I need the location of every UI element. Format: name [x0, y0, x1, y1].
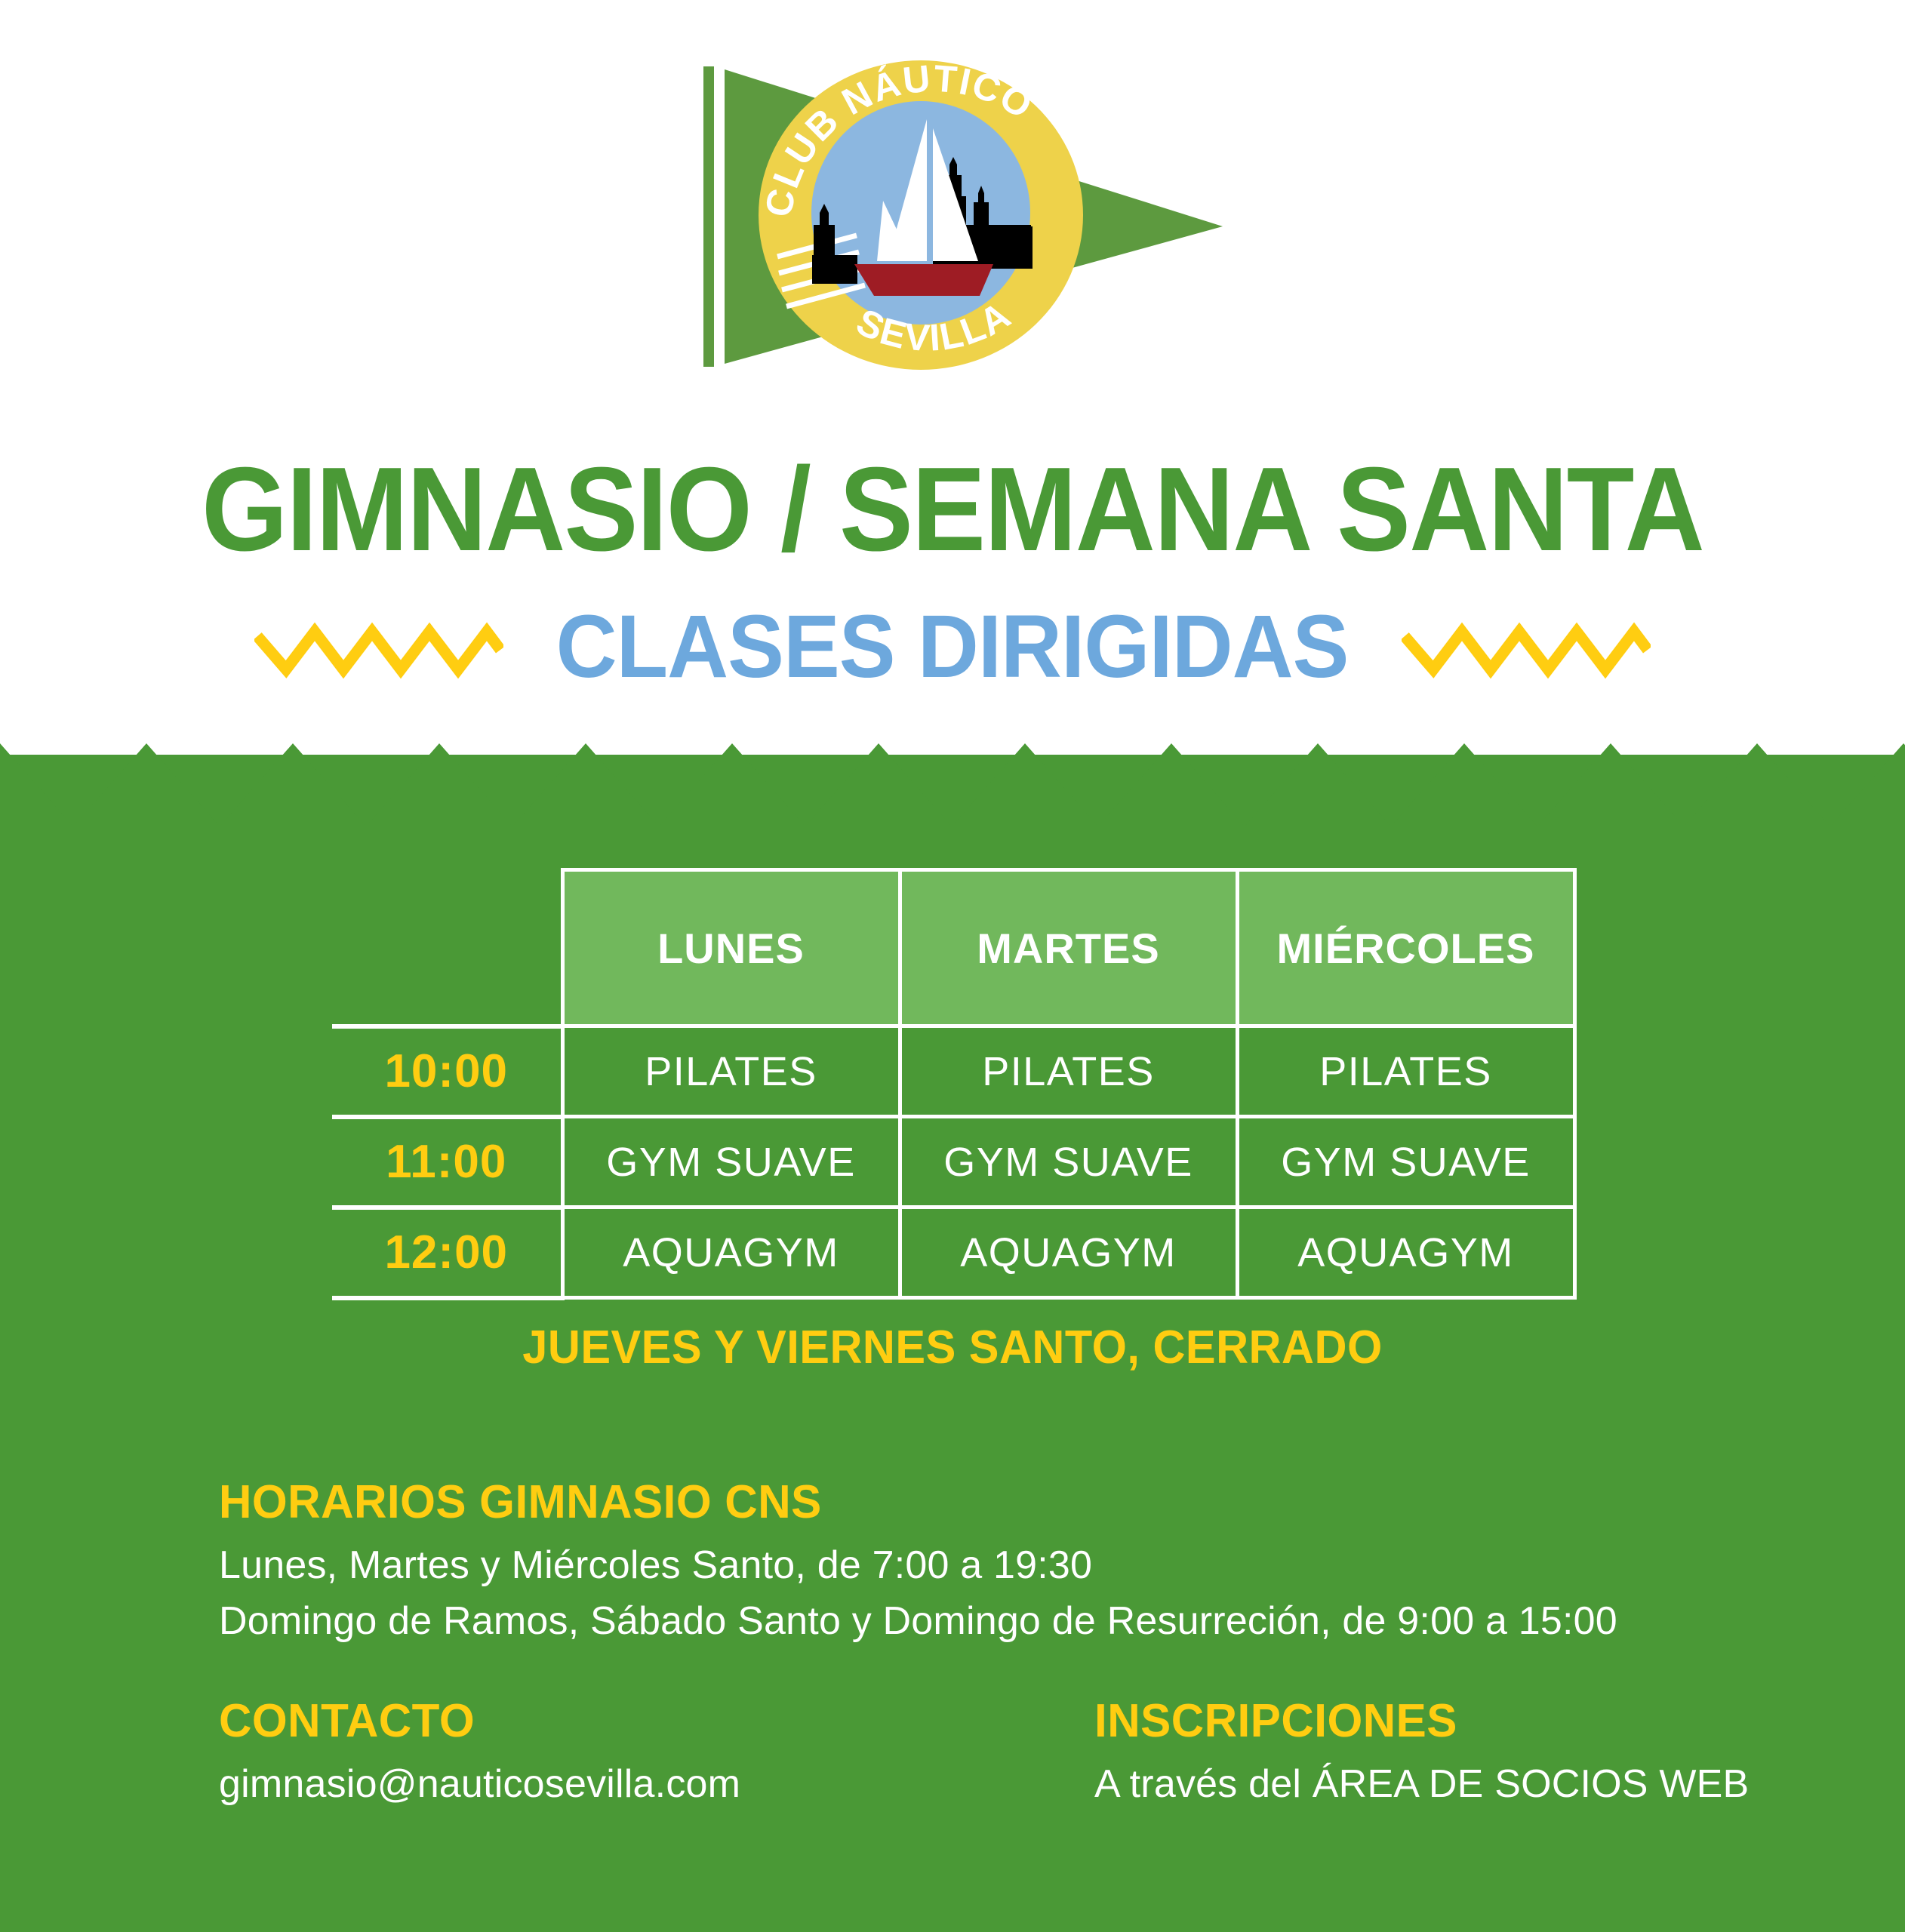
class-cell-1000-martes: PILATES	[900, 1026, 1237, 1117]
row-time-1200: 12:00	[332, 1207, 562, 1298]
class-cell-1200-miercoles: AQUAGYM	[1237, 1207, 1574, 1298]
class-cell-1100-martes: GYM SUAVE	[900, 1117, 1237, 1207]
zigzag-left-icon	[254, 615, 503, 680]
table-row: 10:00 PILATES PILATES PILATES	[332, 1026, 1574, 1117]
column-header-lunes: LUNES	[562, 870, 900, 1026]
class-cell-1200-lunes: AQUAGYM	[562, 1207, 900, 1298]
signup-block: INSCRIPCIONES A través del ÁREA DE SOCIO…	[1094, 1694, 1849, 1813]
signup-heading: INSCRIPCIONES	[1094, 1694, 1827, 1748]
page-subtitle: CLASES DIRIGIDAS	[556, 596, 1349, 699]
contact-block: CONTACTO gimnasio@nauticosevilla.com	[219, 1694, 974, 1813]
signup-detail: A través del ÁREA DE SOCIOS WEB	[1094, 1757, 1849, 1813]
contact-email[interactable]: gimnasio@nauticosevilla.com	[219, 1757, 974, 1813]
closed-days-note: JUEVES Y VIERNES SANTO, CERRADO	[38, 1321, 1867, 1374]
table-corner-cell	[332, 870, 562, 1026]
page-title: GIMNASIO / SEMANA SANTA	[66, 441, 1838, 578]
class-cell-1200-martes: AQUAGYM	[900, 1207, 1237, 1298]
column-header-martes: MARTES	[900, 870, 1237, 1026]
schedule-table-wrapper: LUNES MARTES MIÉRCOLES 10:00 PILATES PIL…	[332, 868, 1577, 1300]
class-cell-1000-miercoles: PILATES	[1237, 1026, 1574, 1117]
row-time-1000: 10:00	[332, 1026, 562, 1117]
gym-hours-line-2: Domingo de Ramos, Sábado Santo y Domingo…	[219, 1594, 1653, 1650]
gym-hours-line-1: Lunes, Martes y Miércoles Santo, de 7:00…	[219, 1538, 1653, 1594]
gym-hours-heading: HORARIOS GIMNASIO CNS	[219, 1475, 1610, 1529]
subtitle-row: CLASES DIRIGIDAS	[0, 596, 1905, 699]
schedule-table: LUNES MARTES MIÉRCOLES 10:00 PILATES PIL…	[332, 868, 1577, 1300]
table-header-row: LUNES MARTES MIÉRCOLES	[332, 870, 1574, 1026]
club-nautico-sevilla-logo: CLUB NÁUTICO SEVILLA	[664, 38, 1238, 385]
zigzag-right-icon	[1402, 615, 1651, 680]
class-cell-1000-lunes: PILATES	[562, 1026, 900, 1117]
row-time-1100: 11:00	[332, 1117, 562, 1207]
class-cell-1100-miercoles: GYM SUAVE	[1237, 1117, 1574, 1207]
gym-hours-block: HORARIOS GIMNASIO CNS Lunes, Martes y Mi…	[219, 1475, 1653, 1650]
class-cell-1100-lunes: GYM SUAVE	[562, 1117, 900, 1207]
table-row: 11:00 GYM SUAVE GYM SUAVE GYM SUAVE	[332, 1117, 1574, 1207]
column-header-miercoles: MIÉRCOLES	[1237, 870, 1574, 1026]
contact-heading: CONTACTO	[219, 1694, 951, 1748]
triangle-edge-divider	[0, 736, 1905, 826]
table-row: 12:00 AQUAGYM AQUAGYM AQUAGYM	[332, 1207, 1574, 1298]
